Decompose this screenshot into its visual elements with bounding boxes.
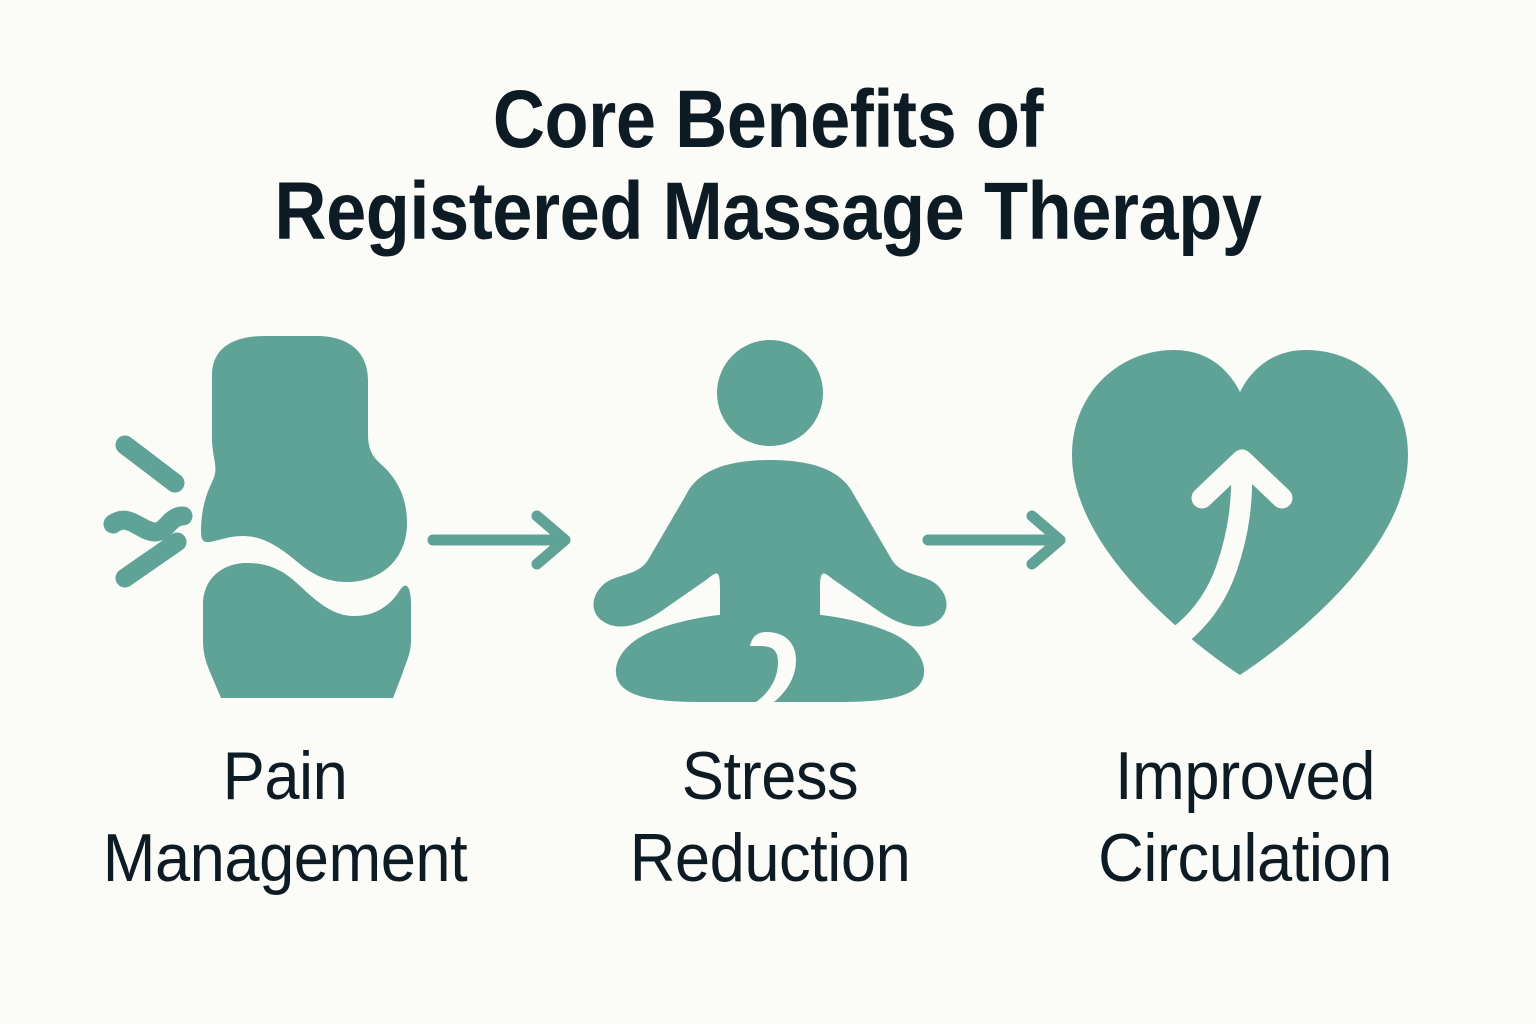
- heart-with-up-arrow-icon: [1050, 320, 1430, 720]
- label-line-2: Circulation: [1050, 817, 1441, 899]
- label-line-1: Stress: [579, 735, 960, 817]
- benefit-label-improved-circulation: Improved Circulation: [1035, 735, 1455, 899]
- meditating-person-icon: [580, 320, 960, 720]
- benefit-step-stress-reduction: [580, 320, 960, 720]
- benefit-step-improved-circulation: [1050, 320, 1430, 720]
- title-line-2: Registered Massage Therapy: [92, 166, 1444, 258]
- benefit-step-pain-management: [95, 320, 475, 720]
- arrow-right-icon: [920, 505, 1080, 575]
- femur-shape: [201, 336, 407, 582]
- label-line-2: Reduction: [579, 817, 960, 899]
- pain-mark-middle: [113, 516, 183, 532]
- page-title: Core Benefits of Registered Massage Ther…: [0, 74, 1536, 258]
- benefit-label-stress-reduction: Stress Reduction: [565, 735, 975, 899]
- infographic-canvas: Core Benefits of Registered Massage Ther…: [0, 0, 1536, 1024]
- label-line-2: Management: [62, 817, 508, 899]
- pain-mark-bottom: [125, 542, 177, 578]
- head-shape: [717, 340, 823, 446]
- title-line-1: Core Benefits of: [92, 74, 1444, 166]
- flow-connector-2: [920, 505, 1080, 575]
- benefit-label-pain-management: Pain Management: [45, 735, 525, 899]
- benefits-flow-row: [0, 320, 1536, 720]
- benefit-labels-row: Pain Management Stress Reduction Improve…: [0, 735, 1536, 915]
- flow-connector-1: [425, 505, 585, 575]
- label-line-1: Pain: [62, 735, 508, 817]
- knee-joint-pain-icon: [95, 320, 475, 720]
- pain-mark-top: [125, 445, 175, 483]
- torso-arms-shape: [594, 460, 947, 627]
- arrow-right-icon: [425, 505, 585, 575]
- tibia-shape: [203, 563, 411, 698]
- label-line-1: Improved: [1050, 735, 1441, 817]
